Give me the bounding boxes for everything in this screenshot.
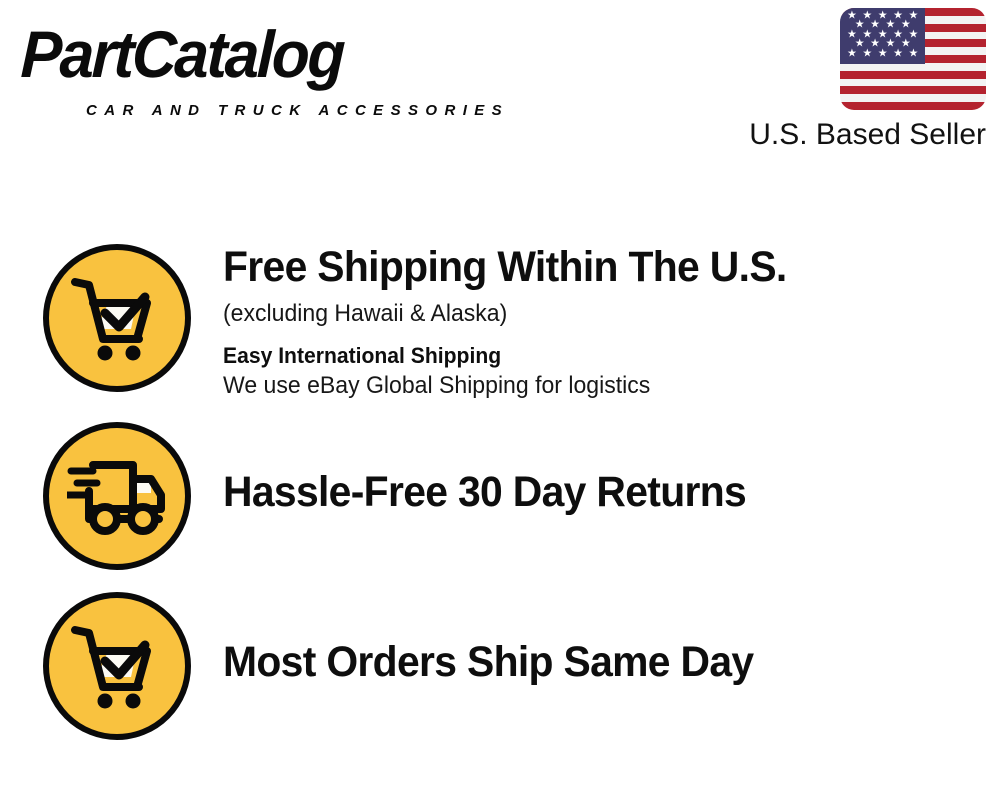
feature-row-returns: Hassle-Free 30 Day Returns bbox=[0, 422, 1000, 570]
feature-note-body: We use eBay Global Shipping for logistic… bbox=[223, 371, 969, 401]
shopping-cart-check-icon bbox=[43, 592, 191, 740]
us-based-seller-block: ★ ★ ★ ★ ★ ★ ★ ★ ★ ★ ★ ★ ★ ★ ★ ★ ★ ★ ★ ★ bbox=[706, 8, 986, 153]
shopping-cart-check-icon bbox=[43, 244, 191, 392]
feature-row-same-day-ship: Most Orders Ship Same Day bbox=[0, 592, 1000, 740]
us-flag-icon: ★ ★ ★ ★ ★ ★ ★ ★ ★ ★ ★ ★ ★ ★ ★ ★ ★ ★ ★ ★ bbox=[840, 8, 986, 110]
shipping-info-banner: PartCatalog CAR AND TRUCK ACCESSORIES ★ … bbox=[0, 0, 1000, 800]
us-based-seller-label: U.S. Based Seller bbox=[706, 117, 986, 153]
brand-tagline: CAR AND TRUCK ACCESSORIES bbox=[86, 102, 509, 119]
feature-title: Free Shipping Within The U.S. bbox=[223, 244, 961, 291]
delivery-truck-icon bbox=[43, 422, 191, 570]
feature-title: Hassle-Free 30 Day Returns bbox=[223, 469, 961, 516]
flag-canton: ★ ★ ★ ★ ★ ★ ★ ★ ★ ★ ★ ★ ★ ★ ★ ★ ★ ★ ★ ★ bbox=[840, 8, 925, 64]
feature-row-free-shipping: Free Shipping Within The U.S. (excluding… bbox=[0, 244, 1000, 401]
feature-title: Most Orders Ship Same Day bbox=[223, 639, 961, 686]
feature-text-same-day-ship: Most Orders Ship Same Day bbox=[223, 592, 1000, 686]
feature-text-returns: Hassle-Free 30 Day Returns bbox=[223, 422, 1000, 516]
brand-logo[interactable]: PartCatalog CAR AND TRUCK ACCESSORIES bbox=[22, 18, 492, 118]
feature-subtitle: (excluding Hawaii & Alaska) bbox=[223, 299, 969, 329]
feature-note-title: Easy International Shipping bbox=[223, 342, 969, 369]
feature-text-free-shipping: Free Shipping Within The U.S. (excluding… bbox=[223, 244, 1000, 401]
brand-wordmark: PartCatalog bbox=[20, 18, 464, 90]
